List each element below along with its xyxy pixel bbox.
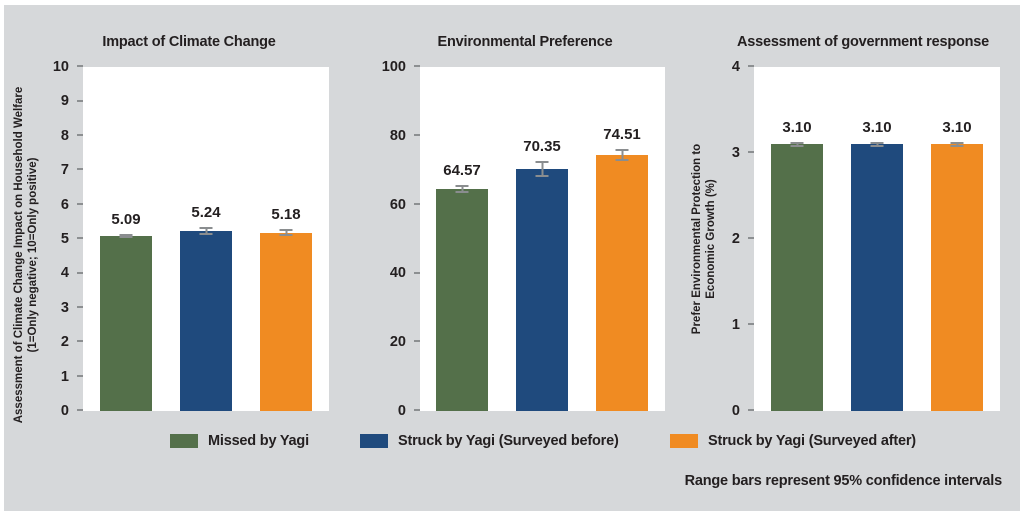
footnote: Range bars represent 95% confidence inte…: [685, 473, 1002, 489]
bar-slot: 70.35: [516, 67, 568, 411]
y-axis-tick-label: 0: [61, 403, 69, 419]
bar-value-label: 5.09: [111, 211, 140, 228]
bar-slot: 5.09: [100, 67, 152, 411]
figure-panel: Impact of Climate Change Assessment of C…: [4, 5, 1020, 511]
error-bar-cap-top: [456, 185, 469, 187]
error-bar-cap-top: [951, 142, 964, 144]
y-axis-tick: 1: [61, 369, 83, 385]
error-bar-cap-bottom: [536, 175, 549, 177]
chart-panel-assessment-of-government-response: Assessment of government response Averag…: [680, 5, 1020, 423]
bar-value-label: 74.51: [603, 126, 641, 143]
y-axis-tick-label: 1: [61, 369, 69, 385]
error-bar-cap-top: [871, 142, 884, 144]
y-axis-tick: 0: [61, 403, 83, 419]
bar[interactable]: [851, 144, 903, 411]
y-axis-tick-label: 9: [61, 93, 69, 109]
bar-value-label: 3.10: [862, 119, 891, 136]
plot-area: 01234 3.103.103.10: [754, 67, 1000, 411]
error-bar-cap-top: [536, 161, 549, 163]
legend-item-label: Missed by Yagi: [208, 433, 309, 449]
y-axis-tick: 80: [390, 128, 420, 144]
y-axis-tick: 9: [61, 93, 83, 109]
chart-panel-environmental-preference: Environmental Preference Prefer Environm…: [340, 5, 680, 423]
bar[interactable]: [596, 155, 648, 411]
legend-item[interactable]: Struck by Yagi (Surveyed after): [670, 429, 916, 453]
y-axis-title-line2: (1=Only negative; 10=Only positive): [26, 35, 40, 475]
bar-slot: 3.10: [771, 67, 823, 411]
error-bar: [120, 234, 133, 239]
bar[interactable]: [100, 236, 152, 411]
y-axis-tick: 8: [61, 128, 83, 144]
bar-value-label: 70.35: [523, 138, 561, 155]
error-bar-cap-top: [280, 229, 293, 231]
error-bar-cap-bottom: [616, 159, 629, 161]
error-bar-cap-bottom: [200, 233, 213, 235]
bar-value-label: 3.10: [942, 119, 971, 136]
y-axis-tick: 2: [732, 231, 754, 247]
y-axis-tick-label: 0: [398, 403, 406, 419]
error-bar-cap-top: [616, 149, 629, 151]
bar-slot: 74.51: [596, 67, 648, 411]
y-axis-tick-label: 8: [61, 128, 69, 144]
charts-row: Impact of Climate Change Assessment of C…: [4, 5, 1020, 423]
y-axis-tick: 6: [61, 197, 83, 213]
y-axis-tick-label: 10: [53, 59, 69, 75]
legend-item[interactable]: Missed by Yagi: [170, 429, 309, 453]
y-axis-tick: 40: [390, 265, 420, 281]
y-axis-tick: 3: [61, 300, 83, 316]
bar[interactable]: [931, 144, 983, 411]
error-bar-cap-top: [200, 227, 213, 229]
y-axis-tick-label: 4: [732, 59, 740, 75]
y-axis-tick: 0: [398, 403, 420, 419]
bar[interactable]: [516, 169, 568, 411]
legend-swatch-icon: [360, 434, 388, 448]
y-axis-tick: 1: [732, 317, 754, 333]
legend-swatch-icon: [170, 434, 198, 448]
y-axis-tick: 2: [61, 334, 83, 350]
error-bar-cap-bottom: [280, 234, 293, 236]
bar-slot: 5.18: [260, 67, 312, 411]
bar-slot: 5.24: [180, 67, 232, 411]
bar[interactable]: [260, 233, 312, 411]
legend-swatch-icon: [670, 434, 698, 448]
error-bar-cap-top: [791, 142, 804, 144]
bar-group: 3.103.103.10: [754, 67, 1000, 411]
chart-title: Assessment of government response: [680, 34, 1020, 50]
error-bar: [200, 227, 213, 235]
bar-slot: 3.10: [931, 67, 983, 411]
y-axis-tick-label: 5: [61, 231, 69, 247]
y-axis-tick: 3: [732, 145, 754, 161]
y-axis-tick: 0: [732, 403, 754, 419]
y-axis-tick-label: 40: [390, 265, 406, 281]
y-axis-tick: 100: [382, 59, 420, 75]
error-bar-cap-bottom: [951, 145, 964, 147]
error-bar: [280, 229, 293, 236]
y-axis-tick-label: 6: [61, 197, 69, 213]
chart-title: Environmental Preference: [340, 34, 680, 50]
chart-title: Impact of Climate Change: [4, 34, 340, 50]
error-bar: [536, 161, 549, 176]
error-bar-cap-bottom: [871, 145, 884, 147]
legend-item-label: Struck by Yagi (Surveyed before): [398, 433, 619, 449]
y-axis-tick-label: 0: [732, 403, 740, 419]
legend: Missed by Yagi Struck by Yagi (Surveyed …: [4, 429, 1020, 463]
y-axis-tick-label: 80: [390, 128, 406, 144]
error-bar: [951, 142, 964, 147]
error-bar: [616, 149, 629, 161]
figure-root: Impact of Climate Change Assessment of C…: [0, 0, 1024, 516]
bar-group: 5.095.245.18: [83, 67, 329, 411]
error-bar: [871, 142, 884, 147]
y-axis-tick: 7: [61, 162, 83, 178]
y-axis-tick-label: 2: [732, 231, 740, 247]
bar-value-label: 5.24: [191, 204, 220, 221]
y-axis-tick-label: 60: [390, 197, 406, 213]
error-bar-cap-bottom: [120, 236, 133, 238]
bar-slot: 64.57: [436, 67, 488, 411]
y-axis-tick-label: 20: [390, 334, 406, 350]
legend-item[interactable]: Struck by Yagi (Surveyed before): [360, 429, 619, 453]
y-axis-tick: 60: [390, 197, 420, 213]
error-bar-cap-bottom: [456, 191, 469, 193]
error-bar: [456, 185, 469, 193]
chart-panel-impact-of-climate-change: Impact of Climate Change Assessment of C…: [4, 5, 340, 423]
plot-area: 020406080100 64.5770.3574.51: [420, 67, 665, 411]
y-axis-tick-label: 2: [61, 334, 69, 350]
y-axis-tick: 4: [732, 59, 754, 75]
y-axis-tick: 4: [61, 265, 83, 281]
bar-group: 64.5770.3574.51: [420, 67, 665, 411]
bar[interactable]: [436, 189, 488, 411]
y-axis-tick: 10: [53, 59, 83, 75]
bar-value-label: 64.57: [443, 162, 481, 179]
y-axis-title: Assessment of Climate Change Impact on H…: [12, 35, 41, 475]
y-axis-tick-label: 7: [61, 162, 69, 178]
y-axis-tick-label: 3: [732, 145, 740, 161]
y-axis-tick-label: 3: [61, 300, 69, 316]
y-axis-tick-label: 4: [61, 265, 69, 281]
y-axis-title-line1: Assessment of Climate Change Impact on H…: [12, 35, 26, 475]
error-bar-cap-top: [120, 234, 133, 236]
legend-item-label: Struck by Yagi (Surveyed after): [708, 433, 916, 449]
bar[interactable]: [180, 231, 232, 411]
bar[interactable]: [771, 144, 823, 411]
bar-slot: 3.10: [851, 67, 903, 411]
y-axis-tick: 20: [390, 334, 420, 350]
plot-area: 012345678910 5.095.245.18: [83, 67, 329, 411]
y-axis-tick-label: 100: [382, 59, 406, 75]
error-bar-cap-bottom: [791, 145, 804, 147]
y-axis-tick-label: 1: [732, 317, 740, 333]
error-bar: [791, 142, 804, 147]
y-axis-tick: 5: [61, 231, 83, 247]
bar-value-label: 5.18: [271, 206, 300, 223]
bar-value-label: 3.10: [782, 119, 811, 136]
